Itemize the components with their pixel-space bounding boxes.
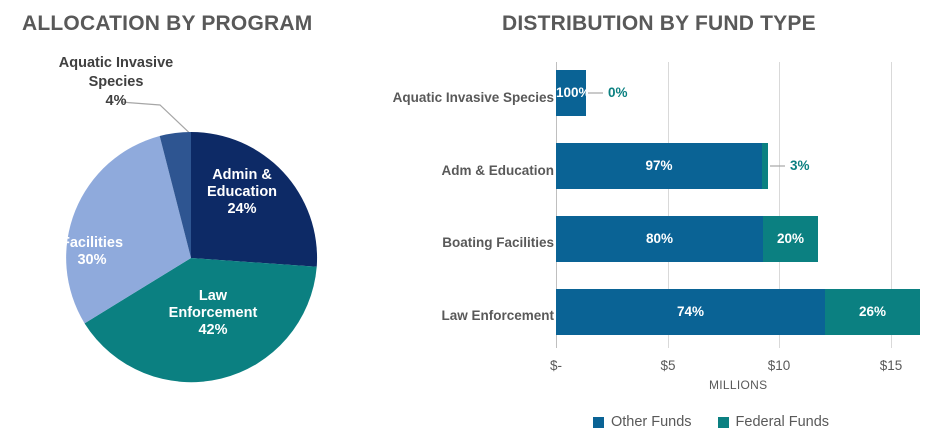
bar-segment-label-federal-3: 26% — [825, 289, 920, 335]
allocation-by-program-panel: ALLOCATION BY PROGRAM Admin & Education … — [0, 0, 470, 448]
legend-label-federal-funds: Federal Funds — [736, 414, 830, 430]
dashboard-root: ALLOCATION BY PROGRAM Admin & Education … — [0, 0, 952, 448]
pie-slice-admin[interactable] — [191, 132, 317, 267]
bar-xtick-2: $10 — [749, 358, 809, 373]
bar-category-label-1: Adm & Education — [441, 163, 554, 178]
bar-segment-label-other-1: 97% — [556, 143, 762, 189]
bar-segment-label-federal-2: 20% — [763, 216, 818, 262]
pie-label-aquatic-invasive-species: Aquatic Invasive Species 4% — [26, 54, 206, 111]
bar-segment-other-3[interactable]: 74% — [556, 289, 825, 335]
bar-xtick-1: $5 — [638, 358, 698, 373]
bar-segment-federal-2[interactable]: 20% — [763, 216, 818, 262]
legend-swatch-other-funds — [593, 417, 604, 428]
bar-outside-label-federal-0: 0% — [608, 85, 628, 100]
bar-xtick-0: $- — [526, 358, 586, 373]
legend-label-other-funds: Other Funds — [611, 414, 692, 430]
bar-category-label-3: Law Enforcement — [441, 308, 554, 323]
distribution-by-fund-type-panel: DISTRIBUTION BY FUND TYPE Aquatic Invasi… — [470, 0, 952, 448]
bar-category-label-2: Boating Facilities — [442, 235, 554, 250]
bar-segment-label-other-0: 100% — [556, 70, 586, 116]
bar-chart-legend: Other Funds Federal Funds — [470, 414, 952, 430]
legend-item-other-funds[interactable]: Other Funds — [593, 414, 692, 430]
bar-segment-federal-1[interactable] — [762, 143, 768, 189]
bar-chart-plot-area: 100% 97% 80% 20% — [556, 62, 922, 348]
page-title-distribution: DISTRIBUTION BY FUND TYPE — [502, 12, 816, 36]
pie-chart — [55, 132, 327, 384]
bar-xtick-3: $15 — [861, 358, 921, 373]
bar-axis-title: MILLIONS — [709, 378, 767, 392]
bar-category-label-0: Aquatic Invasive Species — [393, 90, 554, 105]
legend-item-federal-funds[interactable]: Federal Funds — [718, 414, 830, 430]
bar-segment-other-2[interactable]: 80% — [556, 216, 763, 262]
bar-segment-label-other-3: 74% — [556, 289, 825, 335]
bar-segment-other-0[interactable]: 100% — [556, 70, 586, 116]
bar-segment-other-1[interactable]: 97% — [556, 143, 762, 189]
bar-segment-label-other-2: 80% — [556, 216, 763, 262]
legend-swatch-federal-funds — [718, 417, 729, 428]
page-title-allocation: ALLOCATION BY PROGRAM — [22, 12, 312, 36]
pie-chart-svg — [55, 132, 327, 384]
bar-outside-label-federal-1: 3% — [790, 158, 810, 173]
bar-segment-federal-3[interactable]: 26% — [825, 289, 920, 335]
